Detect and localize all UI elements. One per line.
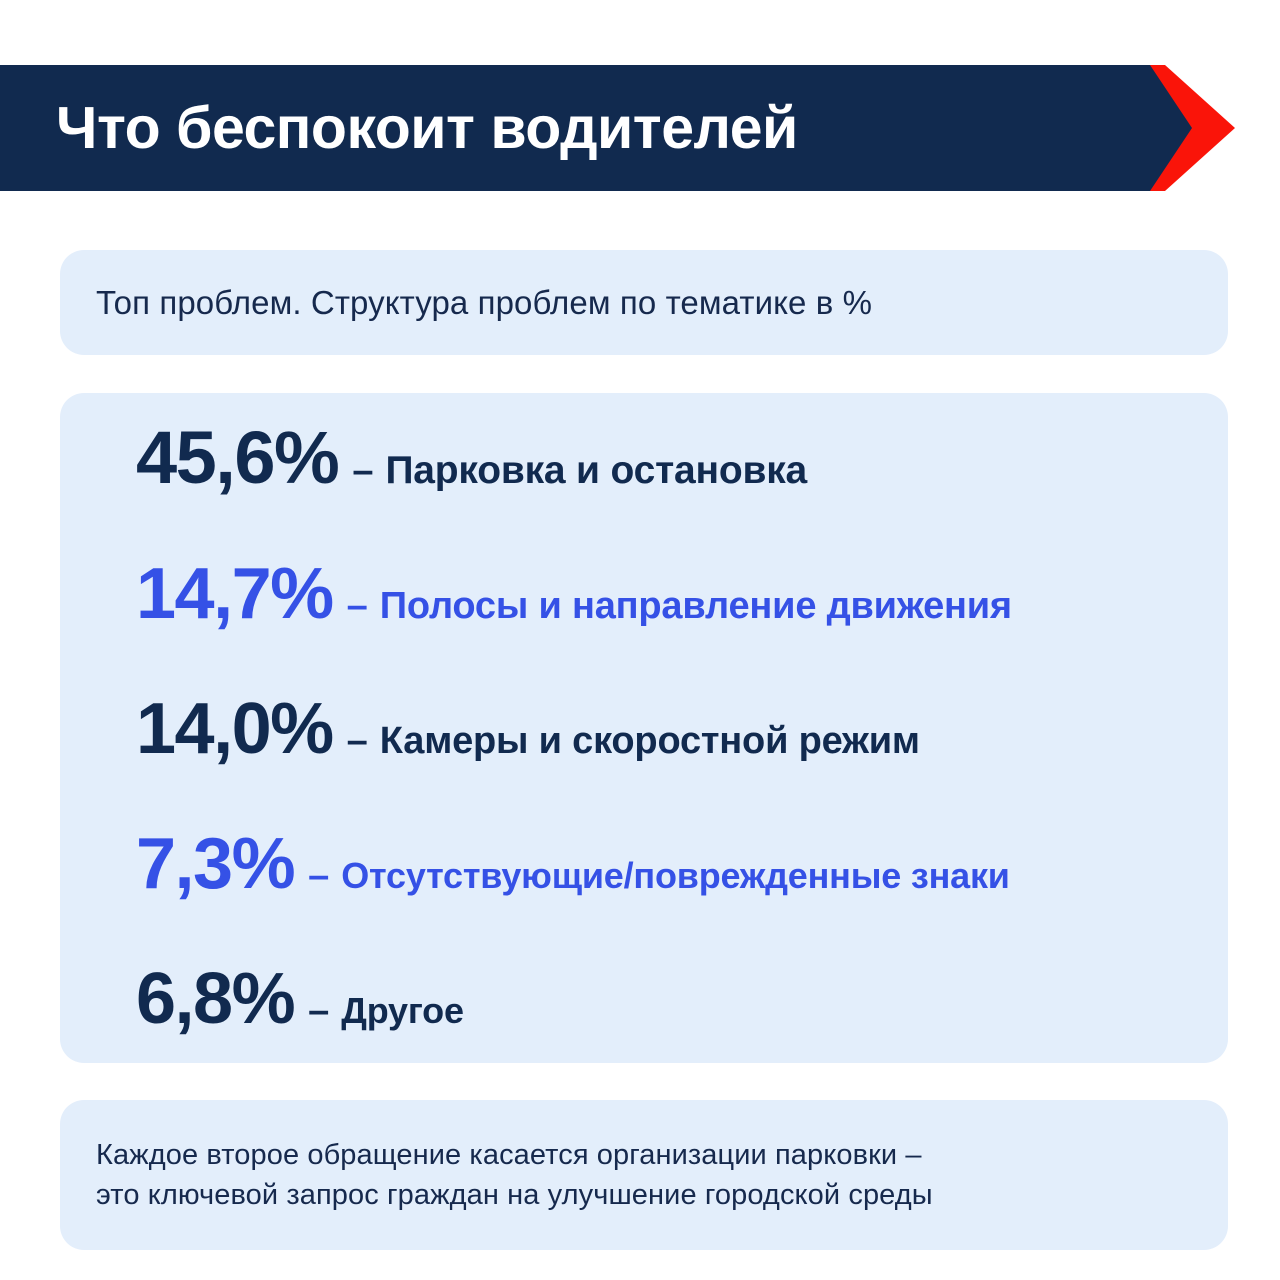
subtitle-text: Топ проблем. Структура проблем по темати… xyxy=(96,284,872,322)
stat-row: 45,6% – Парковка и остановка xyxy=(100,421,1188,495)
footnote-line-1: Каждое второе обращение касается организ… xyxy=(96,1135,933,1175)
footnote-line-2: это ключевой запрос граждан на улучшение… xyxy=(96,1175,933,1215)
stats-card: 45,6% – Парковка и остановка 14,7% – Пол… xyxy=(60,393,1228,1063)
stat-label: Отсутствующие/поврежденные знаки xyxy=(341,858,1009,894)
stat-dash: – xyxy=(308,992,329,1030)
subtitle-card: Топ проблем. Структура проблем по темати… xyxy=(60,250,1228,355)
stat-value: 6,8% xyxy=(136,963,294,1035)
infographic-page: Что беспокоит водителей Топ проблем. Стр… xyxy=(0,0,1280,1280)
stat-row: 7,3% – Отсутствующие/поврежденные знаки xyxy=(100,828,1188,900)
page-title: Что беспокоит водителей xyxy=(56,65,798,191)
stat-label: Полосы и направление движения xyxy=(380,587,1012,625)
stat-dash: – xyxy=(347,587,368,625)
stat-value: 45,6% xyxy=(136,421,338,495)
footnote-card: Каждое второе обращение касается организ… xyxy=(60,1100,1228,1250)
stat-dash: – xyxy=(308,857,329,895)
stat-value: 14,0% xyxy=(136,693,333,765)
stat-label: Камеры и скоростной режим xyxy=(380,722,920,760)
stat-value: 7,3% xyxy=(136,828,294,900)
footnote-text: Каждое второе обращение касается организ… xyxy=(96,1135,933,1215)
stat-label: Другое xyxy=(341,993,464,1029)
stat-row: 6,8% – Другое xyxy=(100,963,1188,1035)
stat-label: Парковка и остановка xyxy=(385,451,807,490)
stat-row: 14,7% – Полосы и направление движения xyxy=(100,558,1188,630)
stat-dash: – xyxy=(352,452,373,490)
header-banner: Что беспокоит водителей xyxy=(0,65,1240,191)
stat-value: 14,7% xyxy=(136,558,333,630)
stat-dash: – xyxy=(347,722,368,760)
stat-row: 14,0% – Камеры и скоростной режим xyxy=(100,693,1188,765)
